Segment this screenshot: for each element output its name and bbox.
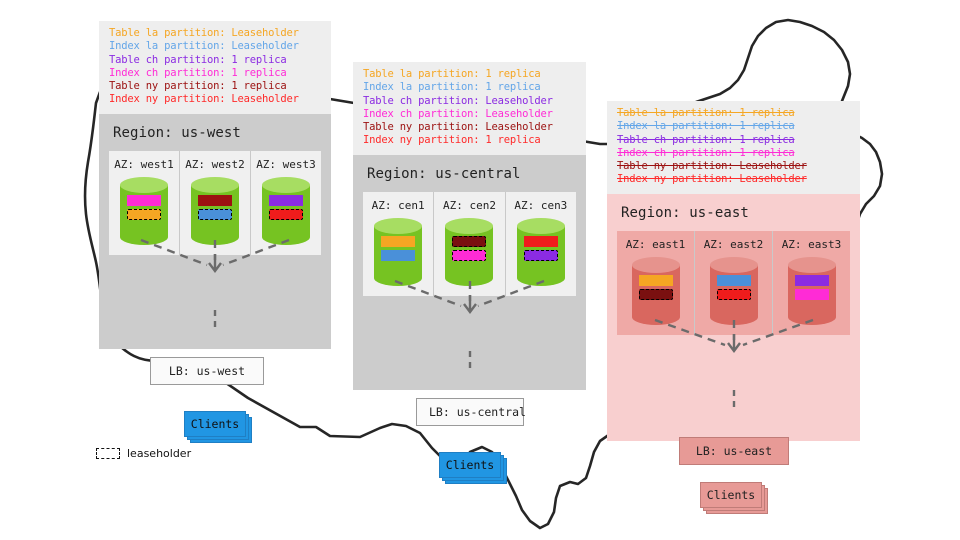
legend-line-us-central-2: Table ch partition: Leaseholder <box>363 95 576 108</box>
legend-line-us-east-2: Table ch partition: 1 replica <box>617 134 850 147</box>
node-cylinder-icon <box>517 218 565 286</box>
legend-line-us-west-1: Index la partition: Leaseholder <box>109 40 321 53</box>
az-cell-west3[interactable]: AZ: west3 <box>250 151 321 255</box>
clients-us-central[interactable]: Clients <box>439 452 501 478</box>
legend-line-us-central-3: Index ch partition: Leaseholder <box>363 108 576 121</box>
legend-line-us-east-5: Index ny partition: Leaseholder <box>617 173 850 186</box>
clients-label-us-west: Clients <box>184 411 246 437</box>
legend-line-us-central-4: Table ny partition: Leaseholder <box>363 121 576 134</box>
node-cylinder-icon <box>788 257 836 325</box>
legend-line-us-east-4: Table ny partition: Leaseholder <box>617 160 850 173</box>
node-cylinder-icon <box>445 218 493 286</box>
replica-bar <box>795 275 829 286</box>
partition-replicas <box>632 275 680 300</box>
cylinder-top <box>262 177 310 193</box>
replica-bar-leaseholder <box>452 236 486 247</box>
az-label-1: AZ: east2 <box>695 238 772 251</box>
legend-line-us-west-5: Index ny partition: Leaseholder <box>109 93 321 106</box>
partition-replicas <box>710 275 758 300</box>
az-label-0: AZ: east1 <box>617 238 694 251</box>
partition-replicas <box>517 236 565 261</box>
replica-bar <box>524 236 558 247</box>
leaseholder-legend: leaseholder <box>96 447 191 460</box>
legend-line-us-central-5: Index ny partition: 1 replica <box>363 134 576 147</box>
az-cell-cen1[interactable]: AZ: cen1 <box>363 192 433 296</box>
leaseholder-legend-label: leaseholder <box>127 447 191 460</box>
az-label-1: AZ: cen2 <box>434 199 504 212</box>
replica-bar-leaseholder <box>452 250 486 261</box>
az-strip-us-west: AZ: west1AZ: west2AZ: west3 <box>109 151 321 255</box>
cylinder-top <box>374 218 422 234</box>
az-label-2: AZ: cen3 <box>506 199 576 212</box>
legend-line-us-west-4: Table ny partition: 1 replica <box>109 80 321 93</box>
replica-bar-leaseholder <box>639 289 673 300</box>
replica-bar <box>381 236 415 247</box>
partition-replicas <box>191 195 239 220</box>
legend-us-central: Table la partition: 1 replicaIndex la pa… <box>353 62 586 155</box>
partition-replicas <box>445 236 493 261</box>
cylinder-top <box>517 218 565 234</box>
clients-label-us-central: Clients <box>439 452 501 478</box>
az-cell-cen3[interactable]: AZ: cen3 <box>505 192 576 296</box>
legend-us-east: Table la partition: 1 replicaIndex la pa… <box>607 101 860 194</box>
partition-replicas <box>120 195 168 220</box>
region-body-us-east: Region: us-east AZ: east1AZ: east2AZ: ea… <box>607 194 860 441</box>
az-cell-east1[interactable]: AZ: east1 <box>617 231 694 335</box>
legend-us-west: Table la partition: LeaseholderIndex la … <box>99 21 331 114</box>
leaseholder-swatch-icon <box>96 448 120 459</box>
replica-bar-leaseholder <box>198 209 232 220</box>
replica-bar <box>127 195 161 206</box>
cylinder-top <box>632 257 680 273</box>
az-cell-cen2[interactable]: AZ: cen2 <box>433 192 504 296</box>
region-panel-us-west: Table la partition: LeaseholderIndex la … <box>99 21 331 349</box>
node-cylinder-icon <box>120 177 168 245</box>
partition-replicas <box>262 195 310 220</box>
az-label-1: AZ: west2 <box>180 158 250 171</box>
az-cell-east2[interactable]: AZ: east2 <box>694 231 772 335</box>
region-body-us-west: Region: us-west AZ: west1AZ: west2AZ: we… <box>99 114 331 349</box>
cylinder-top <box>120 177 168 193</box>
partition-replicas <box>374 236 422 261</box>
region-title-us-east: Region: us-east <box>607 194 860 231</box>
diagram-canvas: Table la partition: LeaseholderIndex la … <box>0 0 960 540</box>
region-panel-us-east: Table la partition: 1 replicaIndex la pa… <box>607 101 860 441</box>
legend-line-us-central-1: Index la partition: 1 replica <box>363 81 576 94</box>
az-label-2: AZ: west3 <box>251 158 321 171</box>
replica-bar-leaseholder <box>269 209 303 220</box>
replica-bar-leaseholder <box>524 250 558 261</box>
node-cylinder-icon <box>632 257 680 325</box>
replica-bar <box>269 195 303 206</box>
replica-bar <box>795 289 829 300</box>
az-label-0: AZ: west1 <box>109 158 179 171</box>
region-body-us-central: Region: us-central AZ: cen1AZ: cen2AZ: c… <box>353 155 586 390</box>
lb-us-west[interactable]: LB: us-west <box>150 357 264 385</box>
az-strip-us-central: AZ: cen1AZ: cen2AZ: cen3 <box>363 192 576 296</box>
legend-line-us-east-1: Index la partition: 1 replica <box>617 120 850 133</box>
cylinder-top <box>788 257 836 273</box>
legend-line-us-east-3: Index ch partition: 1 replica <box>617 147 850 160</box>
clients-label-us-east: Clients <box>700 482 762 508</box>
replica-bar <box>381 250 415 261</box>
partition-replicas <box>788 275 836 300</box>
region-panel-us-central: Table la partition: 1 replicaIndex la pa… <box>353 62 586 390</box>
cylinder-top <box>445 218 493 234</box>
cylinder-top <box>710 257 758 273</box>
region-title-us-central: Region: us-central <box>353 155 586 192</box>
legend-line-us-central-0: Table la partition: 1 replica <box>363 68 576 81</box>
replica-bar <box>717 275 751 286</box>
replica-bar-leaseholder <box>127 209 161 220</box>
node-cylinder-icon <box>262 177 310 245</box>
replica-bar-leaseholder <box>717 289 751 300</box>
clients-us-east[interactable]: Clients <box>700 482 762 508</box>
az-strip-us-east: AZ: east1AZ: east2AZ: east3 <box>617 231 850 335</box>
az-cell-west2[interactable]: AZ: west2 <box>179 151 250 255</box>
legend-line-us-west-0: Table la partition: Leaseholder <box>109 27 321 40</box>
az-cell-west1[interactable]: AZ: west1 <box>109 151 179 255</box>
lb-us-central[interactable]: LB: us-central <box>416 398 524 426</box>
replica-bar <box>639 275 673 286</box>
clients-us-west[interactable]: Clients <box>184 411 246 437</box>
legend-line-us-west-3: Index ch partition: 1 replica <box>109 67 321 80</box>
az-cell-east3[interactable]: AZ: east3 <box>772 231 850 335</box>
lb-us-east[interactable]: LB: us-east <box>679 437 789 465</box>
region-title-us-west: Region: us-west <box>99 114 331 151</box>
node-cylinder-icon <box>710 257 758 325</box>
node-cylinder-icon <box>191 177 239 245</box>
legend-line-us-west-2: Table ch partition: 1 replica <box>109 54 321 67</box>
az-label-0: AZ: cen1 <box>363 199 433 212</box>
node-cylinder-icon <box>374 218 422 286</box>
replica-bar <box>198 195 232 206</box>
legend-line-us-east-0: Table la partition: 1 replica <box>617 107 850 120</box>
cylinder-top <box>191 177 239 193</box>
az-label-2: AZ: east3 <box>773 238 850 251</box>
